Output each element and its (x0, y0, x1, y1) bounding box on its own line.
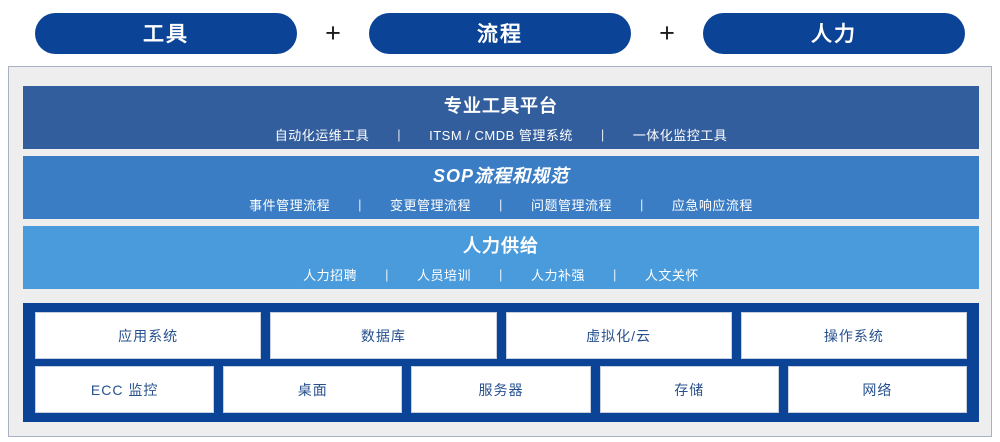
layer-item[interactable]: 人文关怀 (639, 265, 705, 284)
layer-item[interactable]: 变更管理流程 (384, 195, 477, 214)
layers-container: 专业工具平台 自动化运维工具 | ITSM / CMDB 管理系统 | 一体化监… (8, 66, 992, 437)
item-separator: | (618, 197, 666, 212)
base-cell-network[interactable]: 网络 (788, 366, 967, 413)
layer-band-sop[interactable]: SOP流程和规范 事件管理流程 | 变更管理流程 | 问题管理流程 | 应急响应… (23, 156, 979, 219)
plus-icon-1: + (297, 20, 369, 47)
layer-items-tools: 自动化运维工具 | ITSM / CMDB 管理系统 | 一体化监控工具 (269, 125, 734, 144)
base-infrastructure-panel: 应用系统 数据库 虚拟化/云 操作系统 ECC 监控 桌面 服务器 存储 网络 (23, 303, 979, 422)
pill-process[interactable]: 流程 (369, 13, 631, 54)
base-cell-desktop[interactable]: 桌面 (223, 366, 402, 413)
layer-item[interactable]: 一体化监控工具 (627, 125, 734, 144)
layer-items-manpower: 人力招聘 | 人员培训 | 人力补强 | 人文关怀 (297, 265, 705, 284)
layer-item[interactable]: 事件管理流程 (243, 195, 336, 214)
layer-item[interactable]: 人力招聘 (297, 265, 363, 284)
layer-item[interactable]: ITSM / CMDB 管理系统 (423, 125, 579, 144)
layer-item[interactable]: 问题管理流程 (525, 195, 618, 214)
base-cell-virtualization-cloud[interactable]: 虚拟化/云 (506, 312, 732, 359)
pill-tools[interactable]: 工具 (35, 13, 297, 54)
pill-tools-label: 工具 (143, 18, 189, 48)
base-cell-application[interactable]: 应用系统 (35, 312, 261, 359)
plus-icon-2: + (631, 20, 703, 47)
base-cell-server[interactable]: 服务器 (411, 366, 590, 413)
base-row-1: 应用系统 数据库 虚拟化/云 操作系统 (35, 312, 967, 359)
item-separator: | (375, 127, 423, 142)
item-separator: | (477, 267, 525, 282)
layer-title-sop: SOP流程和规范 (433, 162, 569, 188)
layer-items-sop: 事件管理流程 | 变更管理流程 | 问题管理流程 | 应急响应流程 (243, 195, 759, 214)
base-cell-storage[interactable]: 存储 (600, 366, 779, 413)
base-cell-database[interactable]: 数据库 (270, 312, 496, 359)
base-row-2: ECC 监控 桌面 服务器 存储 网络 (35, 366, 967, 413)
layer-item[interactable]: 人员培训 (411, 265, 477, 284)
layer-title-tools: 专业工具平台 (444, 92, 558, 118)
base-cell-ecc-monitoring[interactable]: ECC 监控 (35, 366, 214, 413)
item-separator: | (336, 197, 384, 212)
layer-item[interactable]: 人力补强 (525, 265, 591, 284)
pill-manpower-label: 人力 (811, 18, 857, 48)
layer-band-tools[interactable]: 专业工具平台 自动化运维工具 | ITSM / CMDB 管理系统 | 一体化监… (23, 86, 979, 149)
item-separator: | (579, 127, 627, 142)
layer-item[interactable]: 自动化运维工具 (269, 125, 376, 144)
item-separator: | (477, 197, 525, 212)
top-pill-row: 工具 + 流程 + 人力 (0, 0, 1000, 66)
layer-title-manpower: 人力供给 (463, 232, 539, 258)
diagram-root: 工具 + 流程 + 人力 专业工具平台 自动化运维工具 | ITSM / CMD… (0, 0, 1000, 442)
layer-band-manpower[interactable]: 人力供给 人力招聘 | 人员培训 | 人力补强 | 人文关怀 (23, 226, 979, 289)
pill-manpower[interactable]: 人力 (703, 13, 965, 54)
item-separator: | (591, 267, 639, 282)
base-cell-operating-system[interactable]: 操作系统 (741, 312, 967, 359)
layer-item[interactable]: 应急响应流程 (666, 195, 759, 214)
pill-process-label: 流程 (477, 18, 523, 48)
item-separator: | (363, 267, 411, 282)
